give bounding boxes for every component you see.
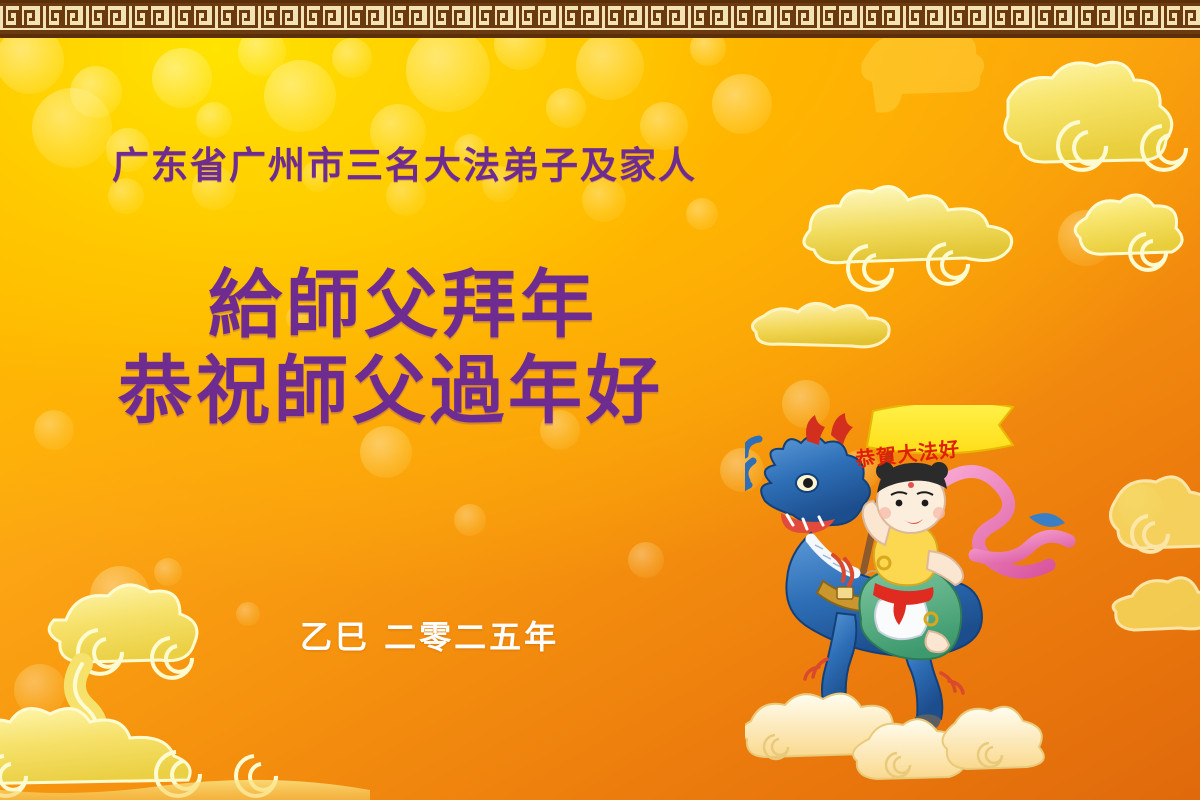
cloud-ghost-shape (861, 30, 984, 113)
bokeh-circle (34, 410, 74, 450)
bokeh-circle (546, 88, 586, 128)
child-cheek-right (933, 507, 945, 519)
cloud-main-top (1005, 62, 1186, 170)
sender-line: 广东省广州市三名大法弟子及家人 (112, 135, 697, 189)
child-figure (859, 462, 963, 659)
bokeh-circle (154, 558, 182, 586)
bokeh-circle (236, 602, 260, 626)
cloud-upper-puff (49, 585, 197, 678)
child-forehead-dot (908, 482, 914, 488)
cloud-right-small (1075, 195, 1182, 270)
cloud-trail-lower (752, 303, 889, 346)
bokeh-circle (152, 48, 212, 108)
banner-flag (867, 405, 1013, 454)
cloud-swirl-tail (44, 664, 97, 760)
greeting-card: 广东省广州市三名大法弟子及家人 給師父拜年 恭祝師父過年好 乙巳 二零二五年 (0, 0, 1200, 800)
dragon-antler-right (831, 413, 853, 445)
bokeh-circle (332, 38, 372, 78)
child-hair-bun-left (876, 462, 894, 480)
date-line: 乙巳 二零二五年 (300, 612, 559, 658)
top-meander-border (0, 0, 1200, 38)
cloud-base-haze (0, 780, 370, 800)
bokeh-circle (264, 60, 336, 132)
greeting-line-1: 給師父拜年 (118, 262, 664, 348)
child-hair-bun-right (930, 462, 948, 480)
cloud-decoration-bottom-left (0, 560, 370, 800)
bokeh-circle (196, 102, 232, 138)
cloud-puffs-base (745, 694, 1044, 779)
greeting-line-2: 恭祝師父過年好 (118, 348, 664, 434)
child-eye-left (896, 500, 903, 507)
bokeh-circle (32, 88, 112, 168)
meander-pattern-icon (0, 0, 1200, 38)
bokeh-circle (1118, 484, 1162, 528)
cloud-decoration-top-right (750, 30, 1200, 360)
bokeh-circle (70, 66, 122, 118)
child-eye-right (922, 500, 929, 507)
bokeh-circle (454, 504, 486, 536)
cloud-lower-band (0, 709, 276, 796)
saddle-buckle (837, 587, 853, 599)
ribbon-tassel (1029, 513, 1065, 527)
bokeh-circle (628, 542, 664, 578)
child-riding-dragon-illustration (745, 405, 1085, 785)
dragon-head (745, 413, 870, 533)
greeting-block: 給師父拜年 恭祝師父過年好 (118, 262, 664, 434)
bokeh-circle (90, 566, 150, 626)
bokeh-circle (406, 28, 490, 112)
bokeh-circle (14, 664, 66, 716)
dragon-mane (745, 439, 759, 505)
bokeh-circle (686, 198, 718, 230)
bokeh-circle (576, 32, 644, 100)
bokeh-circle (1058, 210, 1114, 266)
bokeh-circle (712, 74, 772, 134)
child-cheek-left (879, 507, 891, 519)
cloud-streamer (804, 187, 1012, 290)
